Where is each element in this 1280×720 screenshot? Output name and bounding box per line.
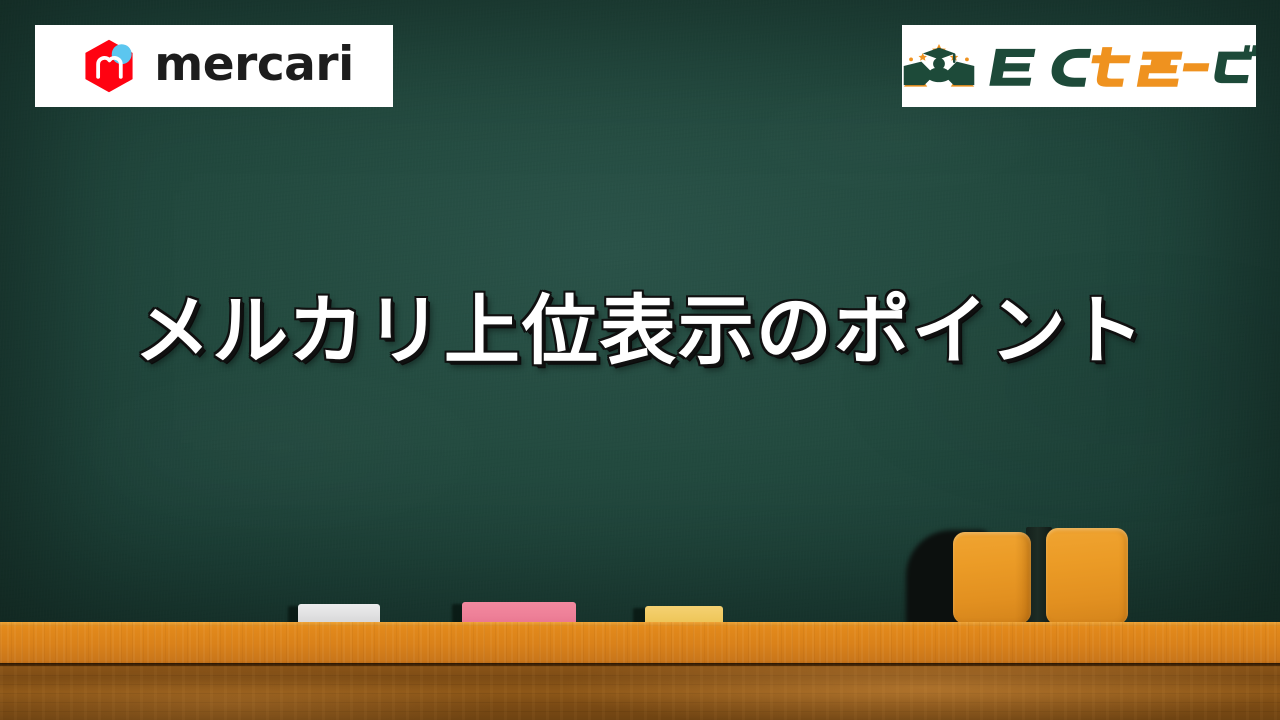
mercari-hexagon-icon	[80, 37, 138, 95]
chalk-tray-ledge	[0, 622, 1280, 666]
ec-seller-lab-wordmark	[986, 41, 1256, 91]
chalk-tray-grain	[0, 622, 1280, 666]
wooden-floor-grain	[0, 666, 1280, 720]
graduate-book-icon	[902, 41, 976, 91]
eraser-left[interactable]	[953, 532, 1031, 624]
mercari-logo-badge[interactable]: mercari	[35, 25, 393, 107]
wooden-floor-sheen	[0, 666, 1280, 720]
wooden-floor	[0, 666, 1280, 720]
slide-headline: メルカリ上位表示のポイント	[0, 288, 1280, 373]
eraser-right[interactable]	[1046, 528, 1128, 625]
slide-canvas: mercari	[0, 0, 1280, 720]
mercari-wordmark: mercari	[154, 41, 353, 88]
chalk-tray-lip	[0, 622, 1280, 626]
ec-seller-lab-logo-badge[interactable]	[902, 25, 1256, 107]
